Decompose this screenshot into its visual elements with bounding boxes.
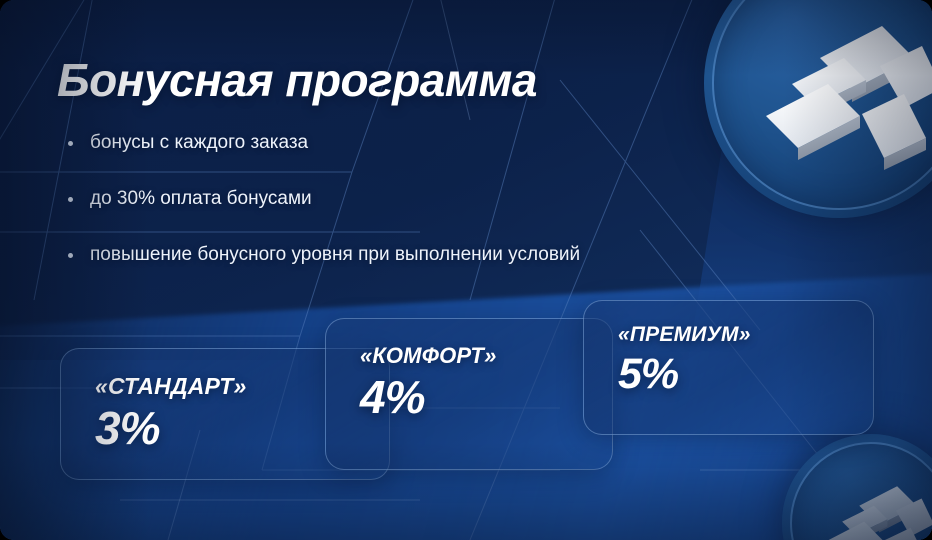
tier-value: 5% [618, 351, 847, 397]
banner-content: Бонусная программа бонусы с каждого зака… [0, 0, 932, 540]
tier-card-comfort: «КОМФОРТ» 4% [325, 318, 613, 470]
bonus-program-banner: Бонусная программа бонусы с каждого зака… [0, 0, 932, 540]
list-item: до 30% оплата бонусами [64, 188, 804, 211]
benefits-list: бонусы с каждого заказа до 30% оплата бо… [64, 132, 804, 266]
tier-name: «КОМФОРТ» [360, 343, 586, 369]
list-item-label: до 30% оплата бонусами [90, 188, 312, 209]
list-item-label: бонусы с каждого заказа [90, 132, 308, 153]
list-item: повышение бонусного уровня при выполнени… [64, 244, 804, 267]
list-item-label: повышение бонусного уровня при выполнени… [90, 244, 580, 265]
bullet-dot-icon [68, 141, 73, 146]
tier-value: 3% [95, 404, 363, 454]
tier-card-premium: «ПРЕМИУМ» 5% [583, 300, 874, 435]
bullet-dot-icon [68, 197, 73, 202]
list-item: бонусы с каждого заказа [64, 132, 804, 155]
tier-name: «СТАНДАРТ» [95, 373, 363, 400]
tier-value: 4% [360, 373, 586, 423]
bullet-dot-icon [68, 253, 73, 258]
banner-title: Бонусная программа [57, 56, 537, 104]
tier-name: «ПРЕМИУМ» [618, 323, 847, 347]
